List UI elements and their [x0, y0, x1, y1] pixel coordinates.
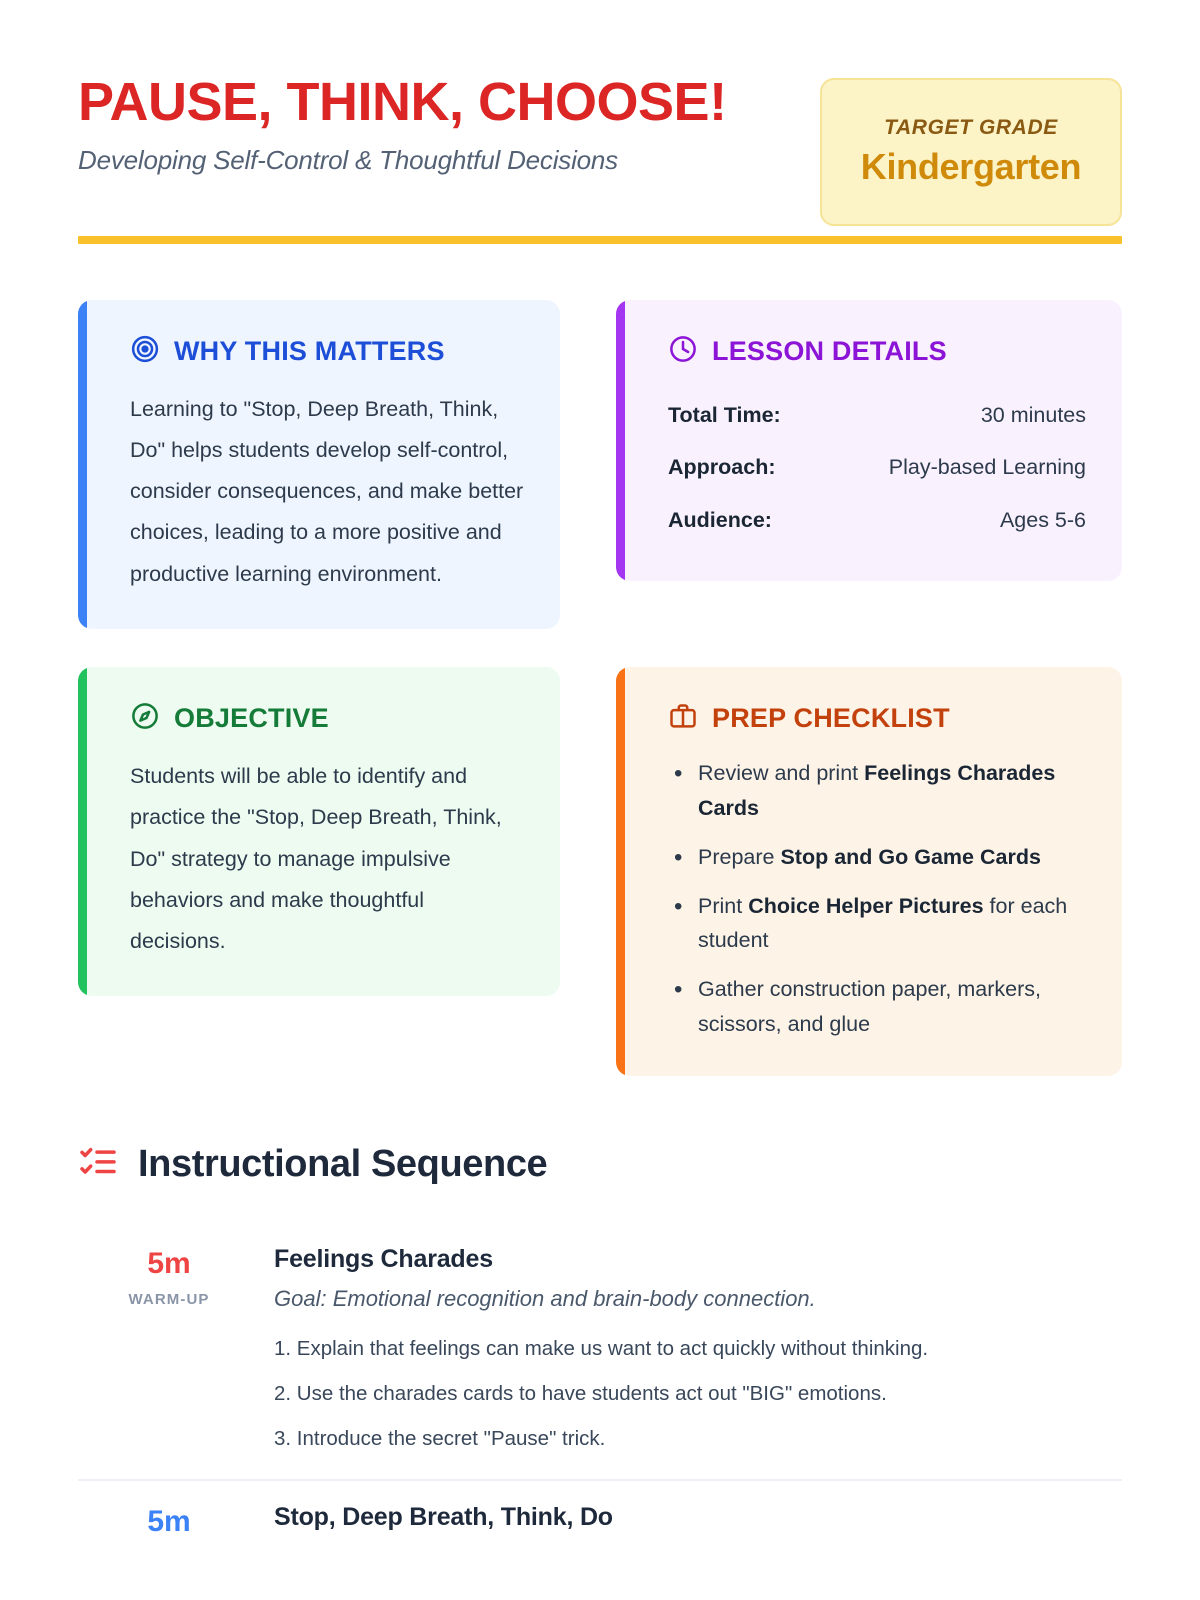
checklist-icon	[78, 1142, 118, 1187]
why-this-matters-card: WHY THIS MATTERS Learning to "Stop, Deep…	[78, 300, 560, 629]
page-title: PAUSE, THINK, CHOOSE!	[78, 74, 727, 131]
card-title: LESSON DETAILS	[712, 336, 947, 367]
target-grade-badge: TARGET GRADE Kindergarten	[820, 78, 1122, 226]
sequence-step: 1. Explain that feelings can make us wan…	[274, 1334, 1122, 1363]
lesson-details-rows: Total Time: 30 minutes Approach: Play-ba…	[668, 389, 1086, 547]
sequence-duration: 5m	[78, 1505, 260, 1540]
sequence-activity-title: Stop, Deep Breath, Think, Do	[274, 1503, 1122, 1532]
sequence-row: 5m Stop, Deep Breath, Think, Do	[78, 1479, 1122, 1566]
sequence-goal: Goal: Emotional recognition and brain-bo…	[274, 1286, 1122, 1312]
header-text-block: PAUSE, THINK, CHOOSE! Developing Self-Co…	[78, 64, 727, 176]
sequence-step: 2. Use the charades cards to have studen…	[274, 1379, 1122, 1408]
lesson-plan-page: PAUSE, THINK, CHOOSE! Developing Self-Co…	[0, 0, 1200, 1600]
compass-icon	[130, 701, 160, 736]
sequence-step: 3. Introduce the secret "Pause" trick.	[274, 1424, 1122, 1453]
sequence-activity-title: Feelings Charades	[274, 1245, 1122, 1274]
detail-value: 30 minutes	[981, 389, 1086, 442]
prep-item-bold: Stop and Go Game Cards	[780, 845, 1040, 869]
sequence-meta: 5m WARM-UP	[78, 1245, 260, 1453]
card-header: LESSON DETAILS	[668, 334, 1086, 369]
card-header: WHY THIS MATTERS	[130, 334, 524, 369]
instructional-sequence-title: Instructional Sequence	[138, 1143, 547, 1186]
clock-icon	[668, 334, 698, 369]
sequence-row: 5m WARM-UP Feelings Charades Goal: Emoti…	[78, 1223, 1122, 1479]
target-grade-label: TARGET GRADE	[884, 116, 1058, 140]
detail-row: Approach: Play-based Learning	[668, 441, 1086, 494]
detail-value: Play-based Learning	[889, 441, 1086, 494]
page-subtitle: Developing Self-Control & Thoughtful Dec…	[78, 145, 727, 176]
prep-item-pre: Gather construction paper, markers, scis…	[698, 977, 1041, 1036]
list-item: Review and print Feelings Charades Cards	[668, 756, 1086, 826]
header-divider	[78, 236, 1122, 244]
card-title: OBJECTIVE	[174, 703, 329, 734]
detail-row: Total Time: 30 minutes	[668, 389, 1086, 442]
briefcase-icon	[668, 701, 698, 736]
target-grade-value: Kindergarten	[861, 146, 1081, 188]
detail-key: Audience:	[668, 494, 772, 547]
instructional-sequence-header: Instructional Sequence	[78, 1142, 1122, 1187]
card-header: OBJECTIVE	[130, 701, 524, 736]
sequence-duration: 5m	[78, 1247, 260, 1282]
sequence-steps: 1. Explain that feelings can make us wan…	[274, 1334, 1122, 1453]
prep-item-pre: Print	[698, 894, 748, 918]
list-item: Prepare Stop and Go Game Cards	[668, 840, 1086, 875]
objective-body: Students will be able to identify and pr…	[130, 756, 524, 962]
detail-value: Ages 5-6	[1000, 494, 1086, 547]
document-header: PAUSE, THINK, CHOOSE! Developing Self-Co…	[78, 64, 1122, 176]
target-icon	[130, 334, 160, 369]
card-title: PREP CHECKLIST	[712, 703, 950, 734]
prep-checklist-list: Review and print Feelings Charades Cards…	[668, 756, 1086, 1042]
detail-key: Total Time:	[668, 389, 781, 442]
detail-key: Approach:	[668, 441, 776, 494]
card-title: WHY THIS MATTERS	[174, 336, 445, 367]
detail-row: Audience: Ages 5-6	[668, 494, 1086, 547]
prep-checklist-card: PREP CHECKLIST Review and print Feelings…	[616, 667, 1122, 1076]
sequence-phase-label: WARM-UP	[78, 1291, 260, 1308]
summary-cards-grid: WHY THIS MATTERS Learning to "Stop, Deep…	[78, 300, 1122, 1076]
card-header: PREP CHECKLIST	[668, 701, 1086, 736]
prep-item-pre: Review and print	[698, 761, 864, 785]
objective-card: OBJECTIVE Students will be able to ident…	[78, 667, 560, 996]
why-this-matters-body: Learning to "Stop, Deep Breath, Think, D…	[130, 389, 524, 595]
instructional-sequence-list: 5m WARM-UP Feelings Charades Goal: Emoti…	[78, 1223, 1122, 1566]
sequence-content: Feelings Charades Goal: Emotional recogn…	[274, 1245, 1122, 1453]
prep-item-pre: Prepare	[698, 845, 780, 869]
lesson-details-card: LESSON DETAILS Total Time: 30 minutes Ap…	[616, 300, 1122, 581]
prep-item-bold: Choice Helper Pictures	[748, 894, 983, 918]
list-item: Print Choice Helper Pictures for each st…	[668, 889, 1086, 959]
list-item: Gather construction paper, markers, scis…	[668, 972, 1086, 1042]
sequence-content: Stop, Deep Breath, Think, Do	[274, 1503, 1122, 1540]
sequence-meta: 5m	[78, 1503, 260, 1540]
